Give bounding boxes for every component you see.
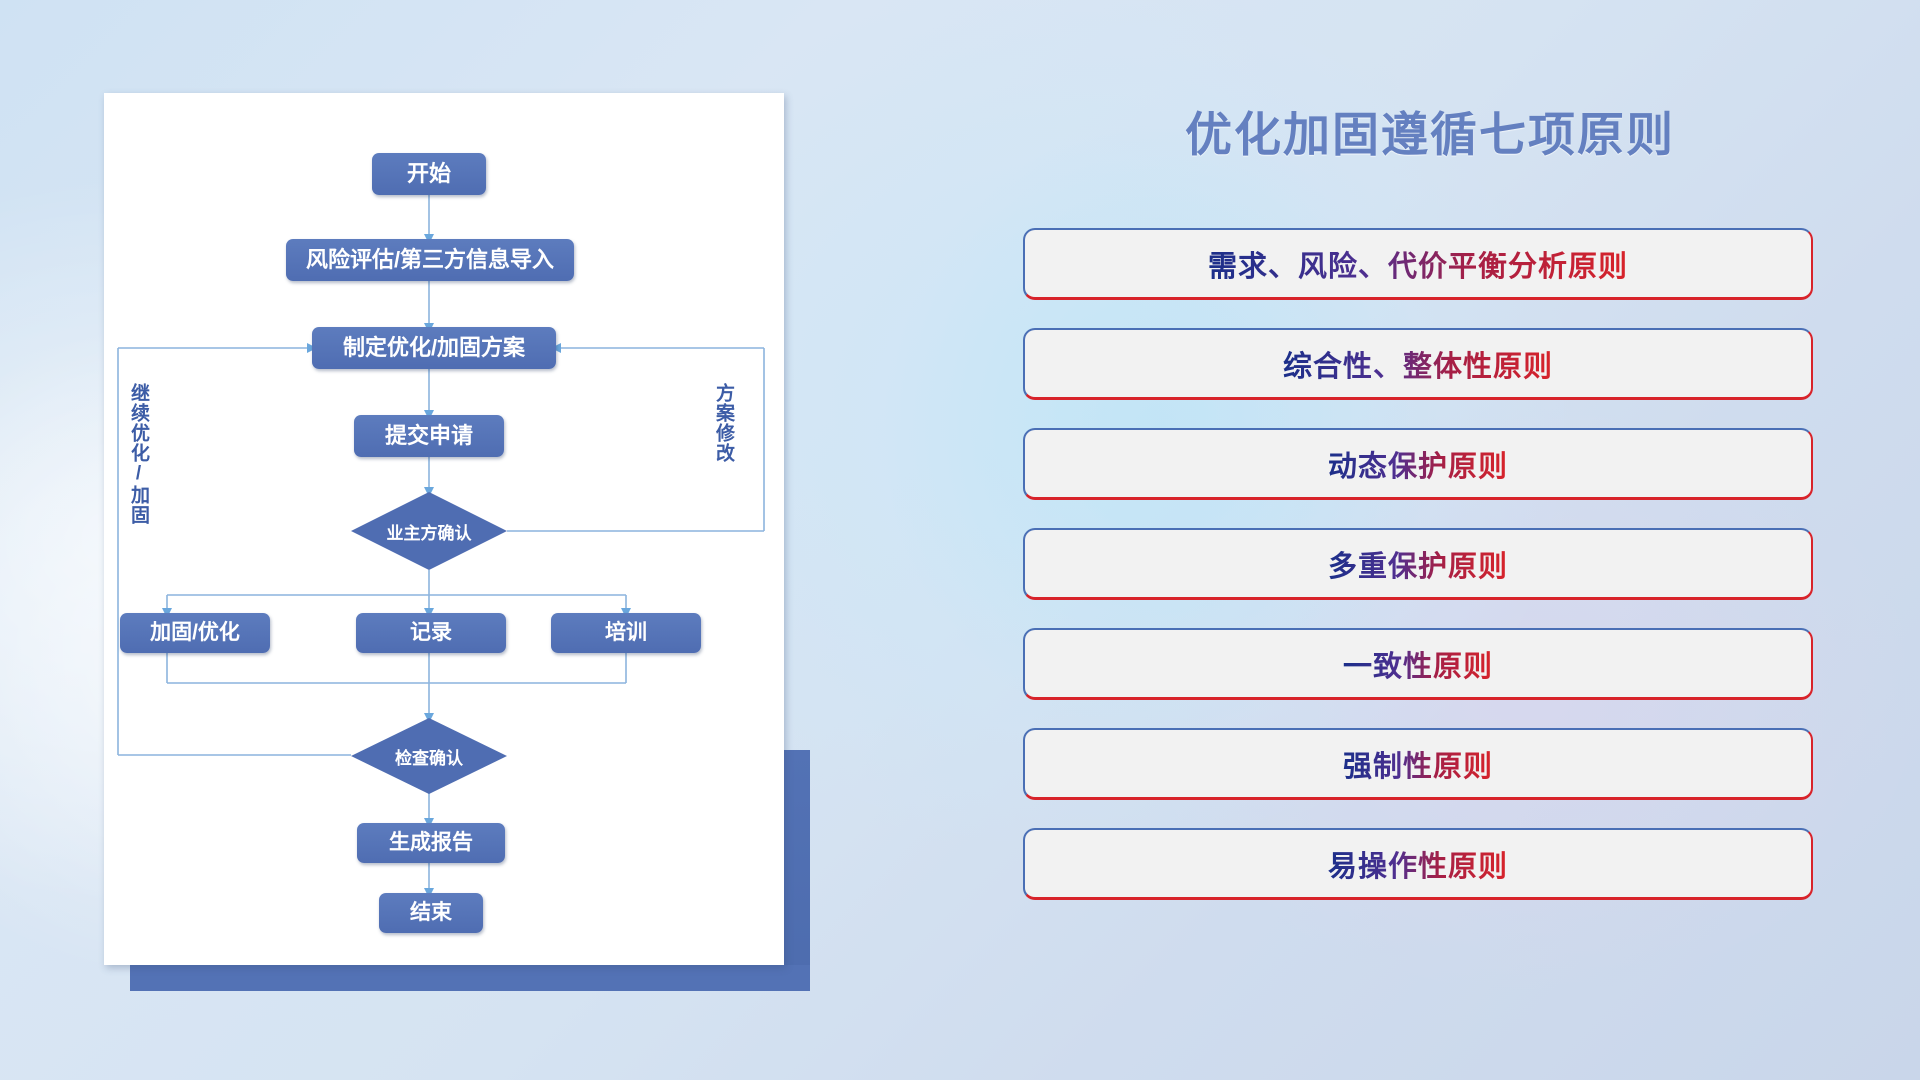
flow-node-record-label: 记录 [410,622,452,644]
principle-item[interactable]: 强制性原则 [1023,728,1813,800]
flow-node-end[interactable]: 结束 [379,893,483,933]
flow-node-training-label: 培训 [605,622,647,644]
principle-label: 动态保护原则 [1328,443,1508,485]
principle-item[interactable]: 动态保护原则 [1023,428,1813,500]
flow-node-start[interactable]: 开始 [372,153,486,195]
principle-label: 需求、风险、代价平衡分析原则 [1208,243,1628,285]
flowchart-card: 开始 风险评估/第三方信息导入 制定优化/加固方案 提交申请 业主方确认 加固/… [104,93,784,965]
flow-node-submit[interactable]: 提交申请 [354,415,504,457]
flow-node-submit-label: 提交申请 [385,424,473,447]
flow-node-owner-confirm-label: 业主方确认 [387,519,472,544]
flow-node-training[interactable]: 培训 [551,613,701,653]
slide-canvas: 开始 风险评估/第三方信息导入 制定优化/加固方案 提交申请 业主方确认 加固/… [0,0,1920,1080]
principle-item[interactable]: 易操作性原则 [1023,828,1813,900]
edge-label-continue-optimize: 继续优化/加固 [129,383,148,525]
edge-label-revise-plan: 方案修改 [714,383,733,463]
flow-node-risk-assess-label: 风险评估/第三方信息导入 [306,248,554,271]
flow-node-end-label: 结束 [410,902,452,924]
principles-panel: 优化加固遵循七项原则 需求、风险、代价平衡分析原则 综合性、整体性原则 动态保护… [1020,96,1840,1016]
principle-label: 易操作性原则 [1328,843,1508,885]
principle-label: 多重保护原则 [1328,543,1508,585]
principle-item[interactable]: 一致性原则 [1023,628,1813,700]
principle-item[interactable]: 需求、风险、代价平衡分析原则 [1023,228,1813,300]
flow-node-inspect[interactable]: 检查确认 [351,718,507,794]
principle-item[interactable]: 综合性、整体性原则 [1023,328,1813,400]
principle-label: 综合性、整体性原则 [1283,343,1553,385]
flow-node-reinforce[interactable]: 加固/优化 [120,613,270,653]
accent-block-horizontal [130,965,810,991]
principle-label: 强制性原则 [1343,743,1493,785]
flow-node-start-label: 开始 [407,162,451,185]
principle-label: 一致性原则 [1343,643,1493,685]
principles-title: 优化加固遵循七项原则 [1020,96,1840,165]
flow-node-report-label: 生成报告 [389,832,473,854]
principles-list: 需求、风险、代价平衡分析原则 综合性、整体性原则 动态保护原则 多重保护原则 一… [1023,228,1813,928]
flow-node-risk-assess[interactable]: 风险评估/第三方信息导入 [286,239,574,281]
flow-node-make-plan[interactable]: 制定优化/加固方案 [312,327,556,369]
flow-node-reinforce-label: 加固/优化 [150,622,240,644]
flow-node-owner-confirm[interactable]: 业主方确认 [351,492,507,570]
flow-node-inspect-label: 检查确认 [395,744,463,769]
flow-node-make-plan-label: 制定优化/加固方案 [343,336,525,359]
principle-item[interactable]: 多重保护原则 [1023,528,1813,600]
flow-node-record[interactable]: 记录 [356,613,506,653]
flow-node-report[interactable]: 生成报告 [357,823,505,863]
